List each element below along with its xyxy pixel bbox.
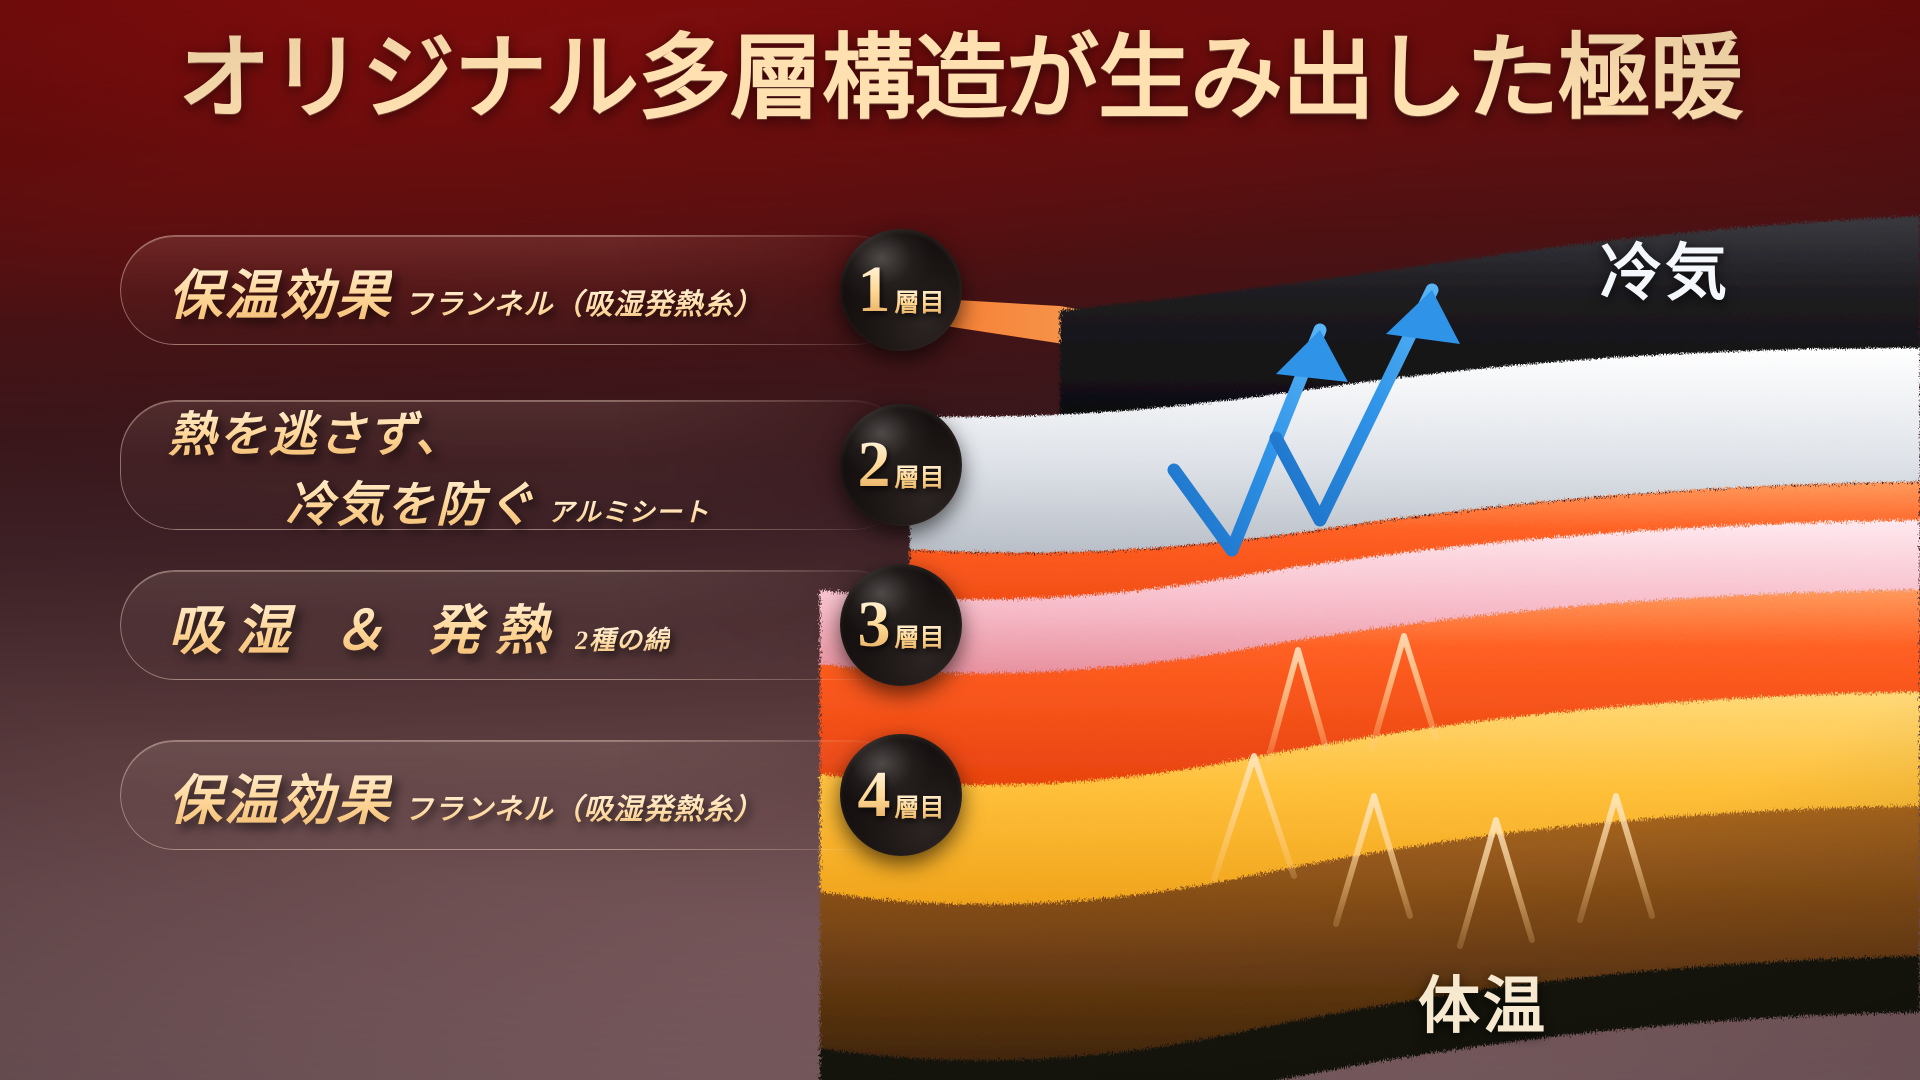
layer-2-unit: 層目 [894,458,944,494]
layer-2-sub: アルミシート [548,492,710,529]
layer-3-unit: 層目 [894,618,944,654]
layer-badge-2[interactable]: 2 層目 [840,404,962,526]
layer-2-main: 熱を逃さず、 [168,395,465,465]
layer-row-1[interactable]: 保温効果 フランネル（吸湿発熱糸） 1 層目 [120,235,910,345]
layer-text-1: 保温効果 フランネル（吸湿発熱糸） [168,235,790,345]
layer-1-number: 1 [857,257,890,323]
layer-1-unit: 層目 [894,283,944,319]
layer-badge-4[interactable]: 4 層目 [840,734,962,856]
layer-2-number: 2 [857,432,890,498]
layer-text-2: 熱を逃さず、 冷気を防ぐ アルミシート [168,400,790,530]
layer-row-2[interactable]: 熱を逃さず、 冷気を防ぐ アルミシート 2 層目 [120,400,910,530]
layer-4-main: 保温効果 [168,756,392,835]
layer-3-number: 3 [857,592,890,658]
layer-1-sub: フランネル（吸湿発熱糸） [404,281,763,323]
layer-badge-1[interactable]: 1 層目 [840,229,962,351]
layer-text-4: 保温効果 フランネル（吸湿発熱糸） [168,740,790,850]
layer-row-3[interactable]: 吸湿 ＆ 発熱 2種の綿 3 層目 [120,570,910,680]
layer-text-3: 吸湿 ＆ 発熱 2種の綿 [168,570,790,680]
layer-4-number: 4 [857,762,890,828]
infographic-canvas: オリジナル多層構造が生み出した極暖 保温効果 フランネル（吸湿発熱糸） 1 層目… [0,0,1920,1080]
layer-4-unit: 層目 [894,788,944,824]
layer-3-main: 吸湿 ＆ 発熱 [168,586,563,665]
cold-air-label: 冷気 [1600,222,1730,312]
body-heat-label: 体温 [1418,955,1548,1045]
layer-3-sub: 2種の綿 [575,620,670,657]
page-title: オリジナル多層構造が生み出した極暖 [0,28,1920,128]
layer-row-4[interactable]: 保温効果 フランネル（吸湿発熱糸） 4 層目 [120,740,910,850]
layer-1-main: 保温効果 [168,251,392,330]
layer-4-sub: フランネル（吸湿発熱糸） [404,786,763,828]
layer-badge-3[interactable]: 3 層目 [840,564,962,686]
layer-2-main2: 冷気を防ぐ [286,465,536,535]
